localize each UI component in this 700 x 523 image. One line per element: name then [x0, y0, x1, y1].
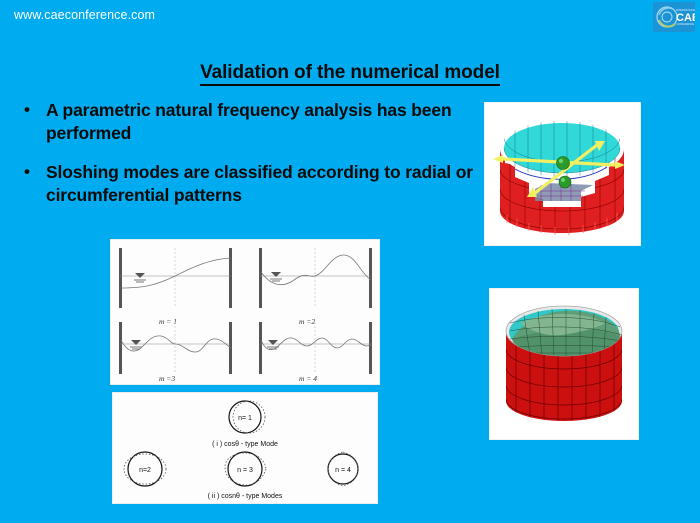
svg-text:INTERNATIONAL: INTERNATIONAL: [676, 8, 695, 12]
axial-modes-graphic: m = 1 m =2: [111, 240, 379, 384]
page-title-text: Validation of the numerical model: [200, 62, 500, 86]
mode-label: m = 1: [159, 317, 177, 326]
cae-logo-graphic: CAE INTERNATIONAL CONFERENCE: [653, 2, 695, 32]
render-sloshing-tank: [489, 288, 639, 440]
bullet-text: Sloshing modes are classified according …: [46, 162, 473, 205]
caption-cos-theta: ( i ) cosθ - type Mode: [212, 441, 278, 448]
bullet-marker-icon: •: [24, 99, 30, 121]
slide-canvas: www.caeconference.com CAE INTERNATIONAL …: [0, 0, 700, 523]
site-url-text: www.caeconference.com: [14, 8, 155, 22]
mode-label: n = 3: [237, 467, 253, 474]
circumferential-modes-graphic: n= 1 ( i ) cosθ - type Mode n=2 n = 3 n …: [113, 393, 377, 503]
list-item: • Sloshing modes are classified accordin…: [16, 161, 478, 207]
cutaway-tank-graphic: [485, 103, 640, 245]
figure-axial-modes: m = 1 m =2: [110, 239, 380, 385]
mode-label: m = 4: [299, 374, 317, 383]
figure-circumferential-modes: n= 1 ( i ) cosθ - type Mode n=2 n = 3 n …: [112, 392, 378, 504]
mode-label: n= 1: [238, 415, 252, 422]
bullet-marker-icon: •: [24, 161, 30, 183]
bullet-text: A parametric natural frequency analysis …: [46, 100, 452, 143]
mode-label: n = 4: [335, 467, 351, 474]
svg-text:CONFERENCE: CONFERENCE: [676, 22, 694, 26]
page-title: Validation of the numerical model: [0, 62, 700, 84]
cae-logo: CAE INTERNATIONAL CONFERENCE: [653, 2, 695, 32]
sloshing-tank-graphic: [490, 289, 638, 439]
mode-label: m =2: [299, 317, 315, 326]
list-item: • A parametric natural frequency analysi…: [16, 99, 478, 145]
mode-label: n=2: [139, 467, 151, 474]
render-cutaway-tank: [484, 102, 641, 246]
bullet-list: • A parametric natural frequency analysi…: [16, 99, 478, 223]
mode-label: m =3: [159, 374, 175, 383]
caption-cos-n-theta: ( ii ) cosnθ - type Modes: [208, 493, 283, 500]
